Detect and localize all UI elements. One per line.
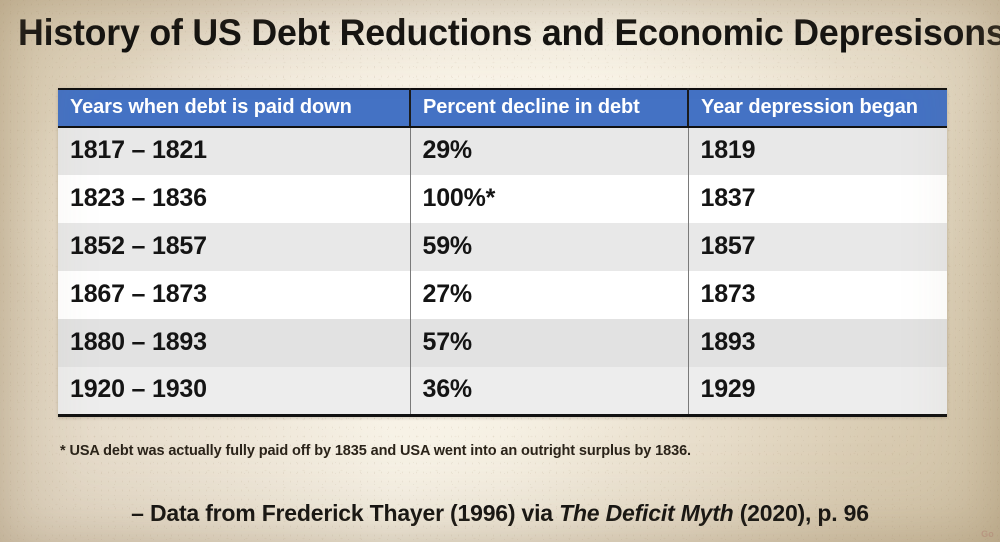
attribution-suffix: (2020), p. 96 <box>734 500 869 526</box>
cell-year: 1893 <box>688 319 947 367</box>
table: Years when debt is paid down Percent dec… <box>58 88 947 417</box>
cell-percent: 29% <box>410 127 688 175</box>
slide-canvas: History of US Debt Reductions and Econom… <box>0 0 1000 542</box>
cell-years: 1823 – 1836 <box>58 175 410 223</box>
table-footnote: * USA debt was actually fully paid off b… <box>60 443 691 459</box>
page-title: History of US Debt Reductions and Econom… <box>18 11 952 55</box>
cell-percent: 36% <box>410 367 688 415</box>
cell-year: 1857 <box>688 223 947 271</box>
cell-percent: 57% <box>410 319 688 367</box>
column-header-percent-decline: Percent decline in debt <box>410 89 688 127</box>
cell-percent: 27% <box>410 271 688 319</box>
table-row: 1880 – 1893 57% 1893 <box>58 319 947 367</box>
cell-years: 1867 – 1873 <box>58 271 410 319</box>
attribution-prefix: – Data from Frederick Thayer (1996) via <box>131 500 559 526</box>
table-row: 1817 – 1821 29% 1819 <box>58 127 947 175</box>
debt-depression-table: Years when debt is paid down Percent dec… <box>58 88 947 417</box>
cell-years: 1920 – 1930 <box>58 367 410 415</box>
cell-percent: 100%* <box>410 175 688 223</box>
table-header-row: Years when debt is paid down Percent dec… <box>58 89 947 127</box>
cell-year: 1929 <box>688 367 947 415</box>
table-row: 1920 – 1930 36% 1929 <box>58 367 947 415</box>
attribution-book-title: The Deficit Myth <box>559 500 733 526</box>
cell-year: 1873 <box>688 271 947 319</box>
table-row: 1852 – 1857 59% 1857 <box>58 223 947 271</box>
corner-watermark: Go <box>981 529 994 539</box>
cell-years: 1880 – 1893 <box>58 319 410 367</box>
column-header-years: Years when debt is paid down <box>58 89 410 127</box>
cell-year: 1837 <box>688 175 947 223</box>
cell-years: 1852 – 1857 <box>58 223 410 271</box>
table-header: Years when debt is paid down Percent dec… <box>58 89 947 127</box>
source-attribution: – Data from Frederick Thayer (1996) via … <box>0 500 1000 527</box>
table-row: 1867 – 1873 27% 1873 <box>58 271 947 319</box>
cell-percent: 59% <box>410 223 688 271</box>
cell-year: 1819 <box>688 127 947 175</box>
cell-years: 1817 – 1821 <box>58 127 410 175</box>
table-row: 1823 – 1836 100%* 1837 <box>58 175 947 223</box>
table-body: 1817 – 1821 29% 1819 1823 – 1836 100%* 1… <box>58 127 947 415</box>
column-header-depression-year: Year depression began <box>688 89 947 127</box>
